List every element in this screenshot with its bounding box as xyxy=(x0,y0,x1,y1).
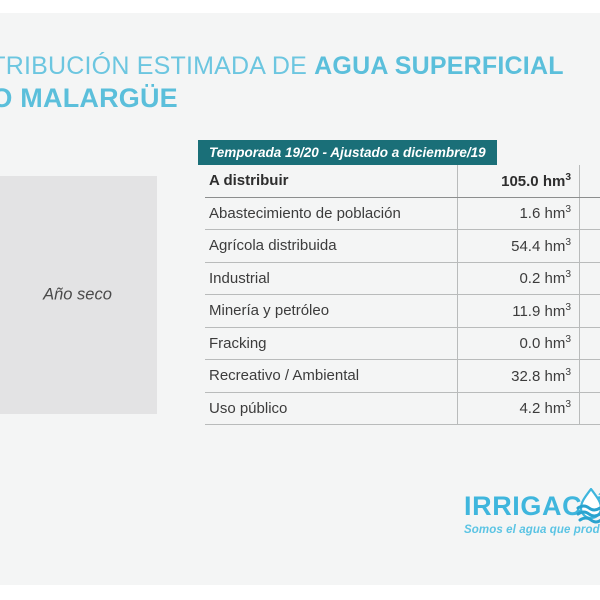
row-volume-text: 32.8 hm xyxy=(511,368,565,385)
table-row: Abastecimiento de población 1.6 hm3 1.5% xyxy=(205,197,600,230)
table-row: Fracking 0.0 hm3 0.0% xyxy=(205,327,600,360)
distribution-table: A distribuir 105.0 hm3 100% Abastecimien… xyxy=(205,165,600,425)
table-row: Industrial 0.2 hm3 0.2% xyxy=(205,262,600,295)
infographic-canvas: DISTRIBUCIÓN ESTIMADA DE AGUA SUPERFICIA… xyxy=(0,13,600,585)
page-title-prefix: DISTRIBUCIÓN ESTIMADA DE xyxy=(0,52,314,80)
table-header-row: A distribuir 105.0 hm3 100% xyxy=(205,165,600,197)
row-volume: 54.4 hm3 xyxy=(458,230,580,263)
cubic-unit-superscript: 3 xyxy=(565,302,571,313)
row-volume: 11.9 hm3 xyxy=(458,295,580,328)
row-volume-text: 11.9 hm xyxy=(512,303,565,320)
scenario-label: Año seco xyxy=(0,286,157,305)
table-header-volume-text: 105.0 hm xyxy=(501,173,565,190)
row-label: Agrícola distribuida xyxy=(205,230,458,263)
row-label: Fracking xyxy=(205,327,458,360)
table-row: Recreativo / Ambiental 32.8 hm3 31.2% xyxy=(205,360,600,393)
cubic-unit-superscript: 3 xyxy=(565,399,571,410)
distribution-table-wrapper: A distribuir 105.0 hm3 100% Abastecimien… xyxy=(205,165,600,425)
water-wave-icon xyxy=(571,488,600,524)
cubic-unit-superscript: 3 xyxy=(565,172,571,183)
row-volume: 32.8 hm3 xyxy=(458,360,580,393)
table-row: Minería y petróleo 11.9 hm3 11.4% xyxy=(205,295,600,328)
row-volume: 4.2 hm3 xyxy=(458,392,580,425)
row-percent: 31.2% xyxy=(580,360,600,393)
cubic-unit-superscript: 3 xyxy=(565,334,571,345)
table-row: Agrícola distribuida 54.4 hm3 51.8% xyxy=(205,230,600,263)
table-body: A distribuir 105.0 hm3 100% Abastecimien… xyxy=(205,165,600,425)
table-row: Uso público 4.2 hm3 4.0% xyxy=(205,392,600,425)
page-title-highlight: AGUA SUPERFICIAL xyxy=(314,52,564,80)
page-title-line-2: RÍO MALARGÜE xyxy=(0,83,178,114)
table-header-volume: 105.0 hm3 xyxy=(458,165,580,197)
logo-tagline: Somos el agua que producimos xyxy=(464,524,600,536)
cubic-unit-superscript: 3 xyxy=(565,204,571,215)
row-label: Recreativo / Ambiental xyxy=(205,360,458,393)
row-volume: 0.0 hm3 xyxy=(458,327,580,360)
row-label: Industrial xyxy=(205,262,458,295)
row-percent: 0.0% xyxy=(580,327,600,360)
row-volume: 0.2 hm3 xyxy=(458,262,580,295)
table-header-label: A distribuir xyxy=(205,165,458,197)
row-volume-text: 0.2 hm xyxy=(519,270,565,287)
row-volume: 1.6 hm3 xyxy=(458,197,580,230)
row-volume-text: 54.4 hm xyxy=(511,238,565,255)
row-volume-text: 0.0 hm xyxy=(519,335,565,352)
row-percent: 51.8% xyxy=(580,230,600,263)
cubic-unit-superscript: 3 xyxy=(565,367,571,378)
page-title-line-1: DISTRIBUCIÓN ESTIMADA DE AGUA SUPERFICIA… xyxy=(0,52,564,81)
row-percent: 4.0% xyxy=(580,392,600,425)
row-percent: 11.4% xyxy=(580,295,600,328)
irrigacion-logo: IRRIGACIÓN Somos el agua que producimos xyxy=(464,491,600,536)
scenario-panel: Año seco xyxy=(0,176,157,414)
row-percent: 1.5% xyxy=(580,197,600,230)
cubic-unit-superscript: 3 xyxy=(565,269,571,280)
season-badge: Temporada 19/20 - Ajustado a diciembre/1… xyxy=(198,140,497,165)
cubic-unit-superscript: 3 xyxy=(565,237,571,248)
row-volume-text: 4.2 hm xyxy=(519,400,565,417)
table-header-percent: 100% xyxy=(580,165,600,197)
row-label: Minería y petróleo xyxy=(205,295,458,328)
row-volume-text: 1.6 hm xyxy=(519,205,565,222)
row-label: Uso público xyxy=(205,392,458,425)
row-percent: 0.2% xyxy=(580,262,600,295)
row-label: Abastecimiento de población xyxy=(205,197,458,230)
